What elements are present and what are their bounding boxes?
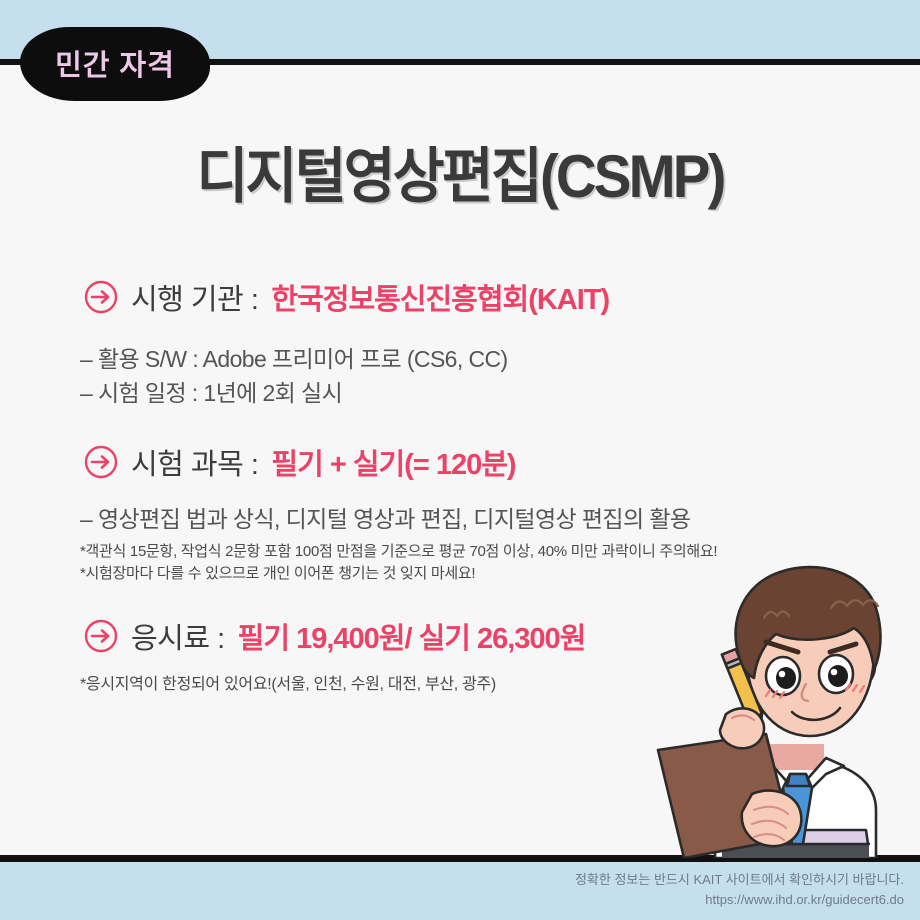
- section-3-note-1: *응시지역이 한정되어 있어요!(서울, 인천, 수원, 대전, 부산, 광주): [80, 670, 496, 694]
- man-with-clipboard-illustration: [640, 548, 920, 858]
- circled-arrow-right-icon: [84, 445, 118, 479]
- section-1-subline-1: – 활용 S/W : Adobe 프리미어 프로 (CS6, CC): [80, 340, 508, 374]
- section-2-note-2: *시험장마다 다를 수 있으므로 개인 이어폰 챙기는 것 잊지 마세요!: [80, 562, 475, 583]
- poster-canvas: 민간 자격 디지털영상편집(CSMP) 시행 기관 : 한국정보통신진흥협회(K…: [0, 0, 920, 920]
- section-1-heading: 시행 기관 : 한국정보통신진흥협회(KAIT): [84, 276, 609, 318]
- section-1-label: 시행 기관 :: [131, 276, 258, 318]
- section-3-value: 필기 19,400원/ 실기 26,300원: [238, 615, 586, 657]
- badge-label: 민간 자격: [55, 42, 175, 84]
- section-3-heading: 응시료 : 필기 19,400원/ 실기 26,300원: [84, 615, 585, 657]
- section-2-label: 시험 과목 :: [131, 441, 258, 483]
- footer-url[interactable]: https://www.ihd.or.kr/guidecert6.do: [484, 890, 904, 910]
- section-1-subline-2: – 시험 일정 : 1년에 2회 실시: [80, 374, 342, 408]
- footer-disclaimer: 정확한 정보는 반드시 KAIT 사이트에서 확인하시기 바랍니다. https…: [484, 870, 904, 909]
- footer-line-1: 정확한 정보는 반드시 KAIT 사이트에서 확인하시기 바랍니다.: [484, 870, 904, 890]
- section-2-heading: 시험 과목 : 필기 + 실기(= 120분): [84, 441, 516, 483]
- qualification-type-badge: 민간 자격: [20, 27, 210, 101]
- page-title: 디지털영상편집(CSMP): [28, 128, 893, 215]
- section-2-value: 필기 + 실기(= 120분): [271, 441, 515, 483]
- circled-arrow-right-icon: [84, 280, 118, 314]
- section-3-label: 응시료 :: [131, 615, 225, 657]
- section-2-subline-1: – 영상편집 법과 상식, 디지털 영상과 편집, 디지털영상 편집의 활용: [80, 500, 690, 534]
- circled-arrow-right-icon: [84, 619, 118, 653]
- section-2-note-1: *객관식 15문항, 작업식 2문항 포함 100점 만점을 기준으로 평균 7…: [80, 540, 717, 561]
- section-1-value: 한국정보통신진흥협회(KAIT): [271, 276, 609, 318]
